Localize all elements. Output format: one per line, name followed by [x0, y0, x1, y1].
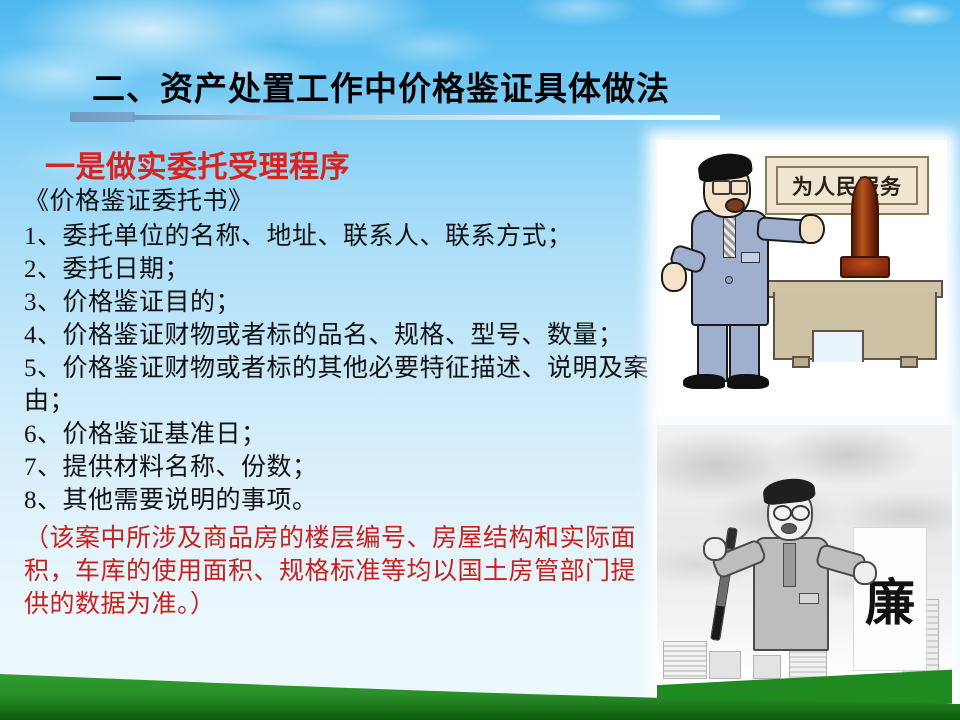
list-item: 6、价格鉴证基准日； — [24, 418, 654, 451]
plaque-text: 为人民服务 — [776, 166, 918, 205]
glasses-lens-left-icon — [712, 180, 731, 195]
figure2-pocket — [799, 593, 819, 604]
list-item: 7、提供材料名称、份数； — [24, 451, 654, 484]
figure2-necktie — [783, 543, 796, 587]
desk-notch — [812, 330, 864, 362]
official-seal-icon — [851, 176, 879, 264]
glasses-lens-left-icon — [773, 505, 792, 521]
page-title: 二、资产处置工作中价格鉴证具体做法 — [92, 70, 792, 110]
figure2-mouth — [781, 523, 797, 534]
calligraphy-scroll-text: 廉 — [853, 527, 927, 671]
figure-pocket — [741, 252, 760, 263]
glasses-lens-right-icon — [730, 180, 748, 195]
figure2-hand-left — [703, 537, 727, 561]
slide-canvas: 二、资产处置工作中价格鉴证具体做法 一是做实委托受理程序 《价格鉴证委托书》 1… — [0, 0, 960, 720]
green-hill-decoration — [0, 660, 960, 720]
divider-line — [132, 115, 720, 120]
figure-leg-left — [697, 318, 728, 382]
list-item: 3、价格鉴证目的； — [24, 286, 654, 319]
illustration-official-at-desk: 为人民服务 — [657, 140, 947, 415]
list-item: 2、委托日期； — [24, 253, 654, 286]
wall-plaque: 为人民服务 — [765, 156, 929, 215]
figure-mouth — [725, 198, 745, 213]
figure-hand-right — [799, 214, 825, 244]
requirement-list: 1、委托单位的名称、地址、联系人、联系方式； 2、委托日期； 3、价格鉴证目的；… — [24, 220, 654, 517]
divider-block — [70, 112, 135, 122]
figure-shoe-left — [683, 374, 725, 389]
desk-foot-left — [792, 356, 810, 368]
list-item: 4、价格鉴证财物或者标的品名、规格、型号、数量； — [24, 319, 654, 352]
document-heading: 《价格鉴证委托书》 — [24, 186, 654, 218]
figure-leg-right — [729, 318, 760, 382]
list-item: 1、委托单位的名称、地址、联系人、联系方式； — [24, 220, 654, 253]
list-item: 5、价格鉴证财物或者标的其他必要特征描述、说明及案由； — [24, 352, 654, 418]
case-note: （该案中所涉及商品房的楼层编号、房屋结构和实际面积，车库的使用面积、规格标准等均… — [24, 522, 654, 621]
seal-base — [840, 256, 890, 278]
figure-necktie — [723, 216, 736, 258]
glasses-lens-right-icon — [791, 505, 810, 521]
body-text-column: 《价格鉴证委托书》 1、委托单位的名称、地址、联系人、联系方式； 2、委托日期；… — [24, 186, 654, 621]
list-item: 8、其他需要说明的事项。 — [24, 484, 654, 517]
figure2-hand-right — [853, 561, 877, 585]
figure-button — [725, 276, 733, 284]
section-subtitle: 一是做实委托受理程序 — [45, 142, 350, 186]
figure-shoe-right — [727, 374, 769, 389]
figure-hand-left — [661, 262, 687, 292]
title-divider — [70, 112, 720, 124]
desk-foot-right — [900, 356, 918, 368]
